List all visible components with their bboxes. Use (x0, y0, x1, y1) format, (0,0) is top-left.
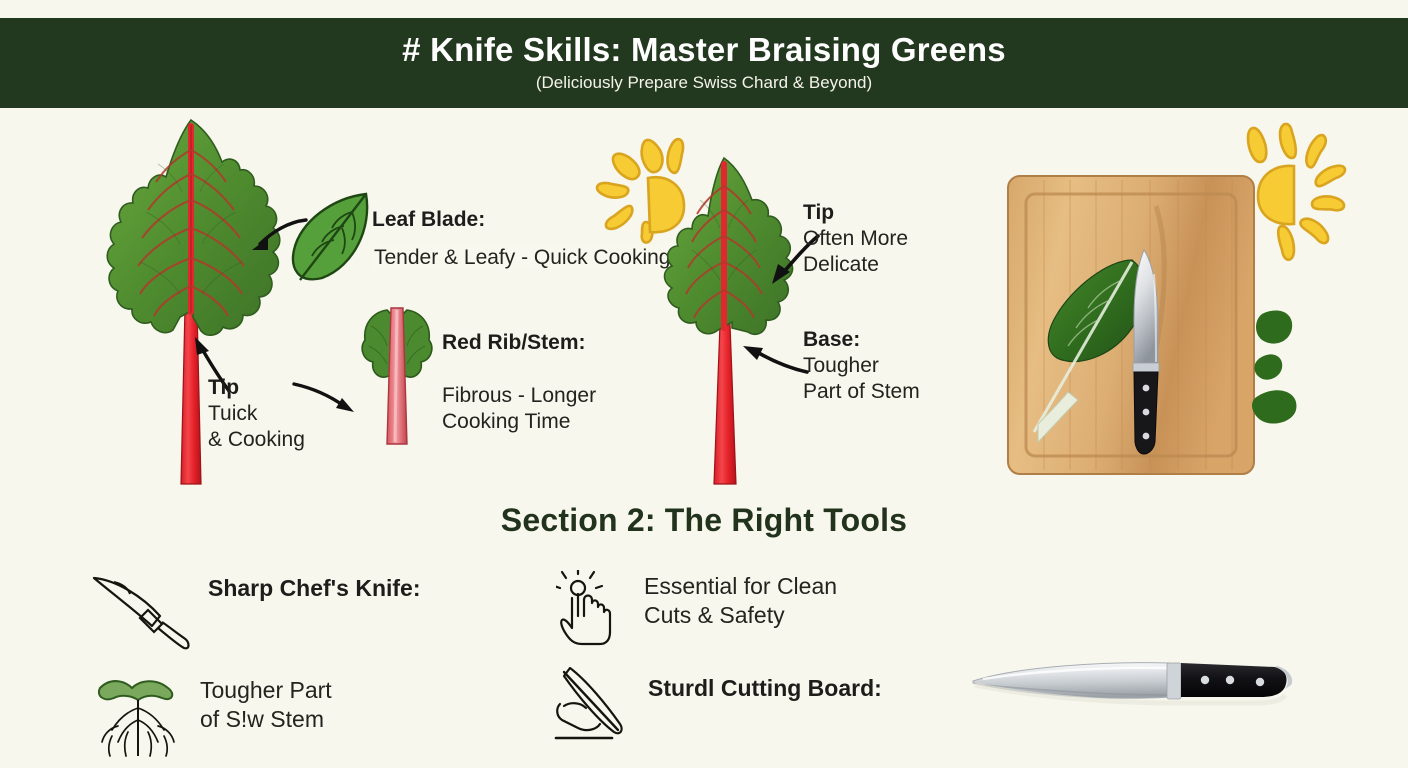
arrow-to-base-icon (735, 338, 811, 380)
left-tip-body-line1: Tuick (208, 401, 418, 427)
tool-label-clean-cuts-line2: Cuts & Safety (644, 601, 837, 630)
leaf-blade-body: Tender & Leafy - Quick Cooking (372, 246, 672, 269)
base-title: Base: (803, 327, 1003, 353)
tool-label-sharp-chefs-knife: Sharp Chef's Knife: (208, 574, 421, 602)
base-body-line1: Tougher (803, 353, 1003, 379)
tool-label-tougher-part-line2: of S!w Stem (200, 705, 332, 734)
wooden-cutting-board-photo (1004, 170, 1258, 480)
page-title: # Knife Skills: Master Braising Greens (402, 33, 1006, 68)
tool-label-tougher-part-line1: Tougher Part (200, 676, 332, 705)
tool-label-sturdy-cutting-board: Sturdl Cutting Board: (648, 674, 882, 702)
section-2-heading: Section 2: The Right Tools (0, 502, 1408, 539)
chefs-knife-photo (955, 645, 1315, 735)
chef-knife-outline-icon (86, 570, 194, 656)
tip-title: Tip (803, 200, 1003, 226)
tip-body-line1: Often More (803, 226, 1003, 252)
tip-body-line2: Delicate (803, 252, 1003, 278)
page-subtitle: (Deliciously Prepare Swiss Chard & Beyon… (536, 73, 872, 93)
left-tip-body-line2: & Cooking (208, 427, 418, 453)
chard-leaf-fragments (1248, 300, 1320, 428)
tool-row-sturdy-cutting-board: Sturdl Cutting Board: (552, 666, 882, 744)
infographic-canvas: # Knife Skills: Master Braising Greens (… (0, 0, 1408, 768)
center-chard-illustration (648, 152, 808, 490)
annotation-tip: Tip Often More Delicate (803, 200, 1003, 279)
left-tip-title: Tip (208, 375, 418, 401)
base-body-line2: Part of Stem (803, 379, 1003, 405)
annotation-left-tip: Tip Tuick & Cooking (208, 375, 418, 454)
tool-row-tougher-part-of-stem: Tougher Part of S!w Stem (92, 670, 332, 762)
tool-row-clean-cuts-safety: Essential for Clean Cuts & Safety (556, 570, 837, 648)
annotation-base: Base: Tougher Part of Stem (803, 327, 1003, 406)
tool-row-sharp-chefs-knife: Sharp Chef's Knife: (86, 570, 421, 656)
plant-roots-icon (92, 670, 186, 762)
tool-label-clean-cuts-line1: Essential for Clean (644, 572, 837, 601)
header-banner: # Knife Skills: Master Braising Greens (… (0, 18, 1408, 108)
knife-sharpening-hand-icon (552, 666, 634, 744)
arrow-to-leaf-blade-icon (248, 212, 310, 260)
tap-hand-icon (556, 570, 630, 648)
